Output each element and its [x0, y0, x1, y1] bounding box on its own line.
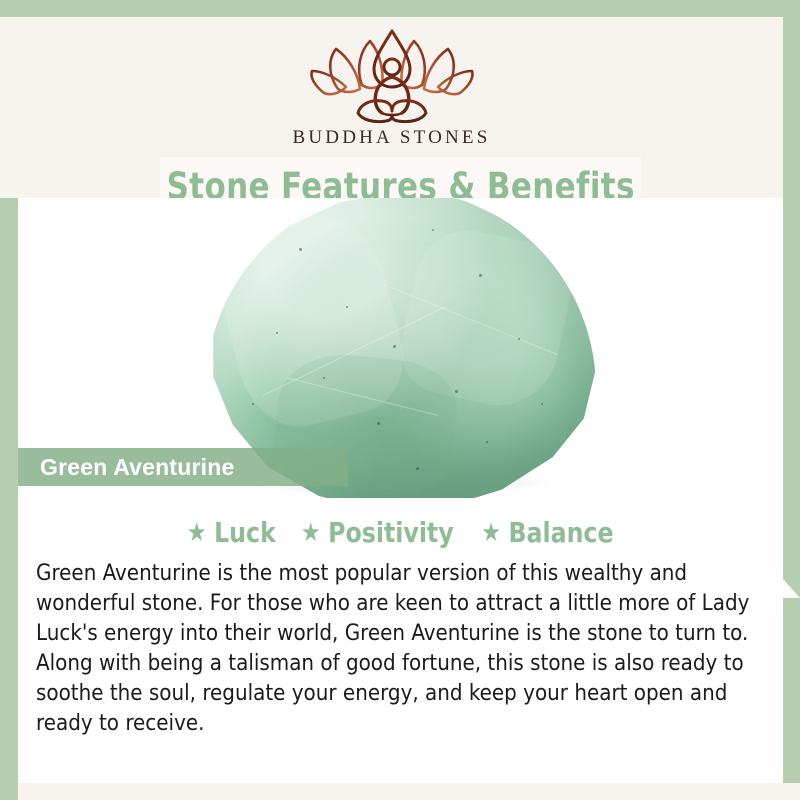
star-icon: ★ — [481, 520, 501, 546]
brand-name: BUDDHA STONES — [292, 127, 490, 149]
benefit-label: Balance — [508, 516, 613, 549]
frame-bottom-cream — [18, 783, 800, 800]
benefit-item-luck: ★ Luck — [186, 516, 275, 549]
stone-name-plate: Green Aventurine — [18, 448, 348, 486]
benefit-list: ★ Luck ★ Positivity ★ Balance — [18, 516, 783, 549]
frame-left-accent-body — [0, 498, 18, 783]
benefit-label: Positivity — [328, 516, 454, 549]
benefit-label: Luck — [214, 516, 276, 549]
lotus-meditation-icon — [304, 27, 480, 125]
star-icon: ★ — [301, 520, 321, 546]
poster-root: BUDDHA STONES Stone Features & Benefits — [0, 0, 800, 800]
description-paragraph: Green Aventurine is the most popular ver… — [36, 558, 755, 738]
benefit-item-positivity: ★ Positivity — [301, 516, 454, 549]
stone-name-label: Green Aventurine — [40, 454, 235, 481]
frame-right-bevel — [782, 578, 800, 598]
frame-right-accent — [782, 0, 800, 596]
description-section: ★ Luck ★ Positivity ★ Balance Green Aven… — [18, 498, 783, 783]
benefit-item-balance: ★ Balance — [481, 516, 613, 549]
header-section: BUDDHA STONES Stone Features & Benefits — [0, 17, 783, 198]
frame-top-accent — [0, 0, 800, 18]
brand-logo: BUDDHA STONES — [0, 27, 783, 149]
star-icon: ★ — [186, 520, 206, 546]
hero-image-area: Green Aventurine — [18, 198, 783, 498]
